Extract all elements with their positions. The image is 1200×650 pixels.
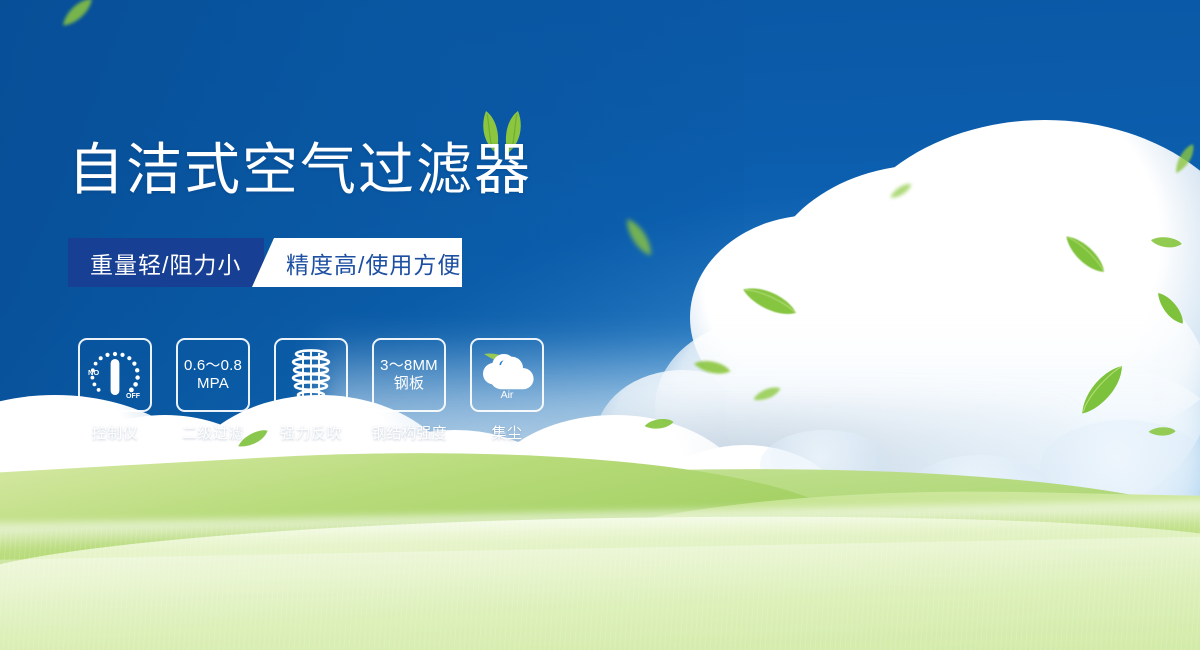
feature-label: 集尘 — [491, 422, 522, 443]
steel-text-icon: 3～8MM钢板 — [380, 357, 438, 394]
feature-icon-box[interactable] — [274, 338, 348, 412]
feature-item-pulse-jet[interactable]: 强力反吹 — [274, 338, 348, 443]
subtitle-bar: 重量轻/阻力小 精度高/使用方便 — [68, 238, 462, 287]
feature-label: 二级过滤 — [182, 422, 244, 443]
feature-item-two-stage-filter[interactable]: 0.6～0.8MPA 二级过滤 — [176, 338, 250, 443]
gauge-icon: NO OFF — [86, 348, 144, 402]
pressure-text-icon: 0.6～0.8MPA — [184, 357, 242, 394]
subtitle-right-text: 精度高/使用方便 — [286, 238, 461, 287]
subtitle-left-text: 重量轻/阻力小 — [90, 238, 241, 287]
cloud-air-icon: Air — [478, 350, 536, 400]
meadow-foreground — [0, 505, 1200, 650]
feature-icon-box[interactable]: Air — [470, 338, 544, 412]
svg-text:OFF: OFF — [126, 393, 141, 400]
feature-label: 钢结构强度 — [372, 422, 447, 443]
feature-icon-box[interactable]: 3～8MM钢板 — [372, 338, 446, 412]
page-title: 自洁式空气过滤器 — [68, 142, 532, 198]
feature-icon-box[interactable]: NO OFF — [78, 338, 152, 412]
feature-label: 控制仪 — [92, 422, 139, 443]
feature-item-dust-collection[interactable]: Air 集尘 — [470, 338, 544, 443]
feature-label: 强力反吹 — [280, 422, 342, 443]
feature-item-steel-strength[interactable]: 3～8MM钢板 钢结构强度 — [372, 338, 446, 443]
feature-list: NO OFF 控制仪 0.6～0.8MPA 二级过滤 — [78, 338, 544, 443]
product-hero-banner: 自洁式空气过滤器 重量轻/阻力小 精度高/使用方便 — [0, 0, 1200, 650]
feature-icon-box[interactable]: 0.6～0.8MPA — [176, 338, 250, 412]
coil-icon — [289, 349, 333, 401]
feature-item-controller[interactable]: NO OFF 控制仪 — [78, 338, 152, 443]
svg-text:NO: NO — [88, 368, 99, 377]
meadow-ground — [0, 435, 1200, 650]
svg-text:Air: Air — [501, 389, 514, 400]
